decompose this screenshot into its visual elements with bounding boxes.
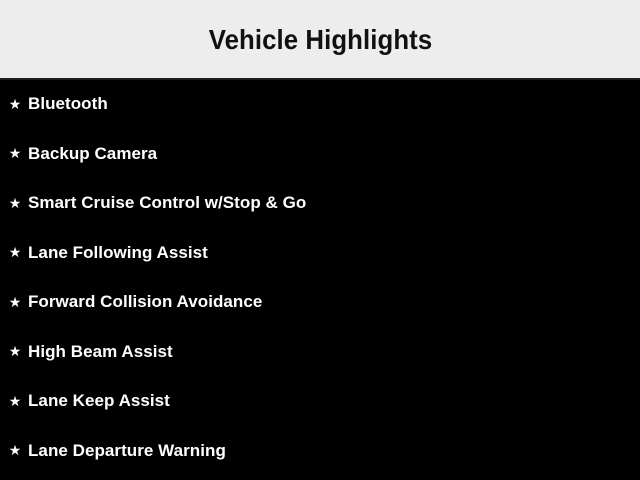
list-item: ★Bluetooth [0,80,640,130]
list-item: ★High Beam Assist [0,328,640,378]
panel-header: Vehicle Highlights [0,0,640,79]
list-item: ★Forward Collision Avoidance [0,278,640,328]
list-item-label: Lane Departure Warning [28,442,226,461]
list-item: ★Lane Keep Assist [0,377,640,427]
list-item: ★Lane Following Assist [0,229,640,279]
star-icon: ★ [5,98,25,112]
star-icon: ★ [5,246,25,260]
star-icon: ★ [5,296,25,310]
list-item-label: Lane Keep Assist [28,392,170,411]
list-item: ★Lane Departure Warning [0,427,640,477]
list-item-label: Smart Cruise Control w/Stop & Go [28,194,306,213]
list-item-label: Bluetooth [28,95,108,114]
star-icon: ★ [5,395,25,409]
highlights-list: ★Bluetooth★Backup Camera★Smart Cruise Co… [0,80,640,480]
star-icon: ★ [5,147,25,161]
vehicle-highlights-panel: Vehicle Highlights ★Bluetooth★Backup Cam… [0,0,640,480]
list-item: ★Backup Camera [0,130,640,180]
list-item-label: Backup Camera [28,145,157,164]
page-title: Vehicle Highlights [208,26,432,54]
star-icon: ★ [5,197,25,211]
list-item-label: High Beam Assist [28,343,173,362]
star-icon: ★ [5,444,25,458]
list-item-label: Lane Following Assist [28,244,208,263]
list-item: ★Smart Cruise Control w/Stop & Go [0,179,640,229]
star-icon: ★ [5,345,25,359]
list-item-label: Forward Collision Avoidance [28,293,262,312]
